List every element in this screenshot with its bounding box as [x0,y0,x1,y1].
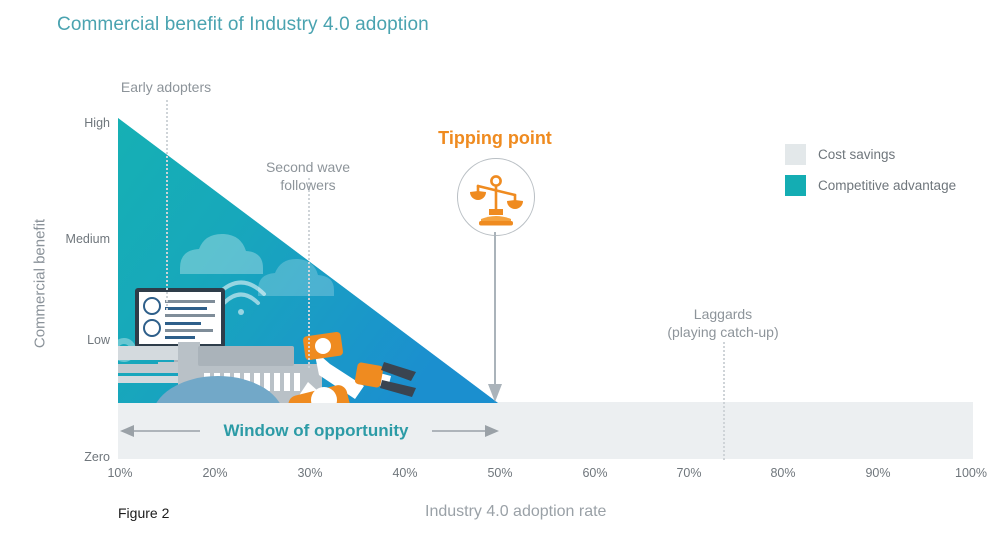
guide-line-early-adopters [166,100,168,310]
legend-label-cost-savings: Cost savings [818,147,895,162]
label-second-wave-followers: Second wave followers [238,159,378,194]
y-tick-zero: Zero [40,450,110,464]
tipping-point-arrow [479,232,511,404]
label-laggards-line2: (playing catch-up) [653,324,793,342]
label-tipping-point: Tipping point [400,128,590,149]
guide-line-laggards [723,342,725,460]
guide-line-second-wave [308,178,310,368]
x-tick-30: 30% [280,466,340,480]
balance-scale-icon [458,159,534,235]
page-title: Commercial benefit of Industry 4.0 adopt… [57,14,429,36]
legend-item-competitive-advantage: Competitive advantage [785,175,956,196]
x-tick-20: 20% [185,466,245,480]
legend-label-competitive-advantage: Competitive advantage [818,178,956,193]
y-axis-title: Commercial benefit [32,184,49,384]
legend-item-cost-savings: Cost savings [785,144,956,165]
x-tick-90: 90% [848,466,908,480]
x-tick-50: 50% [470,466,530,480]
label-second-wave-line2: followers [238,177,378,195]
x-tick-10: 10% [90,466,150,480]
y-tick-high: High [40,116,110,130]
x-tick-80: 80% [753,466,813,480]
legend-swatch-cost-savings [785,144,806,165]
label-second-wave-line1: Second wave [238,159,378,177]
x-tick-60: 60% [565,466,625,480]
label-laggards: Laggards (playing catch-up) [653,306,793,341]
x-axis-title: Industry 4.0 adoption rate [425,503,606,521]
label-laggards-line1: Laggards [653,306,793,324]
y-tick-low: Low [40,333,110,347]
x-tick-70: 70% [659,466,719,480]
figure-caption: Figure 2 [118,505,169,521]
tipping-point-badge [457,158,535,236]
label-window-of-opportunity: Window of opportunity [200,421,432,441]
label-early-adopters: Early adopters [96,79,236,97]
y-tick-medium: Medium [40,232,110,246]
legend-swatch-competitive-advantage [785,175,806,196]
x-tick-100: 100% [941,466,1000,480]
legend: Cost savings Competitive advantage [785,144,956,206]
x-tick-40: 40% [375,466,435,480]
